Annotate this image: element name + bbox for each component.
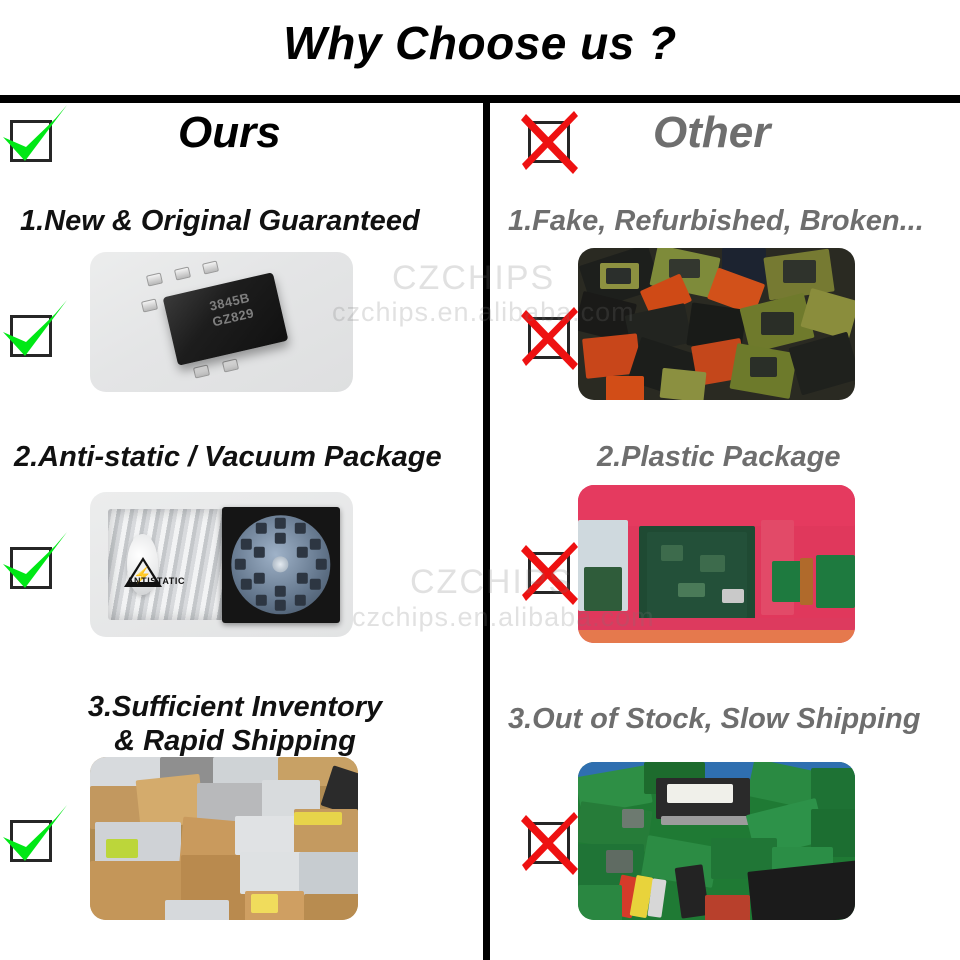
row-3-ours-image bbox=[90, 757, 358, 920]
antistatic-bag-label: ANTISTATIC bbox=[127, 576, 158, 586]
row-3-cross-box bbox=[528, 822, 570, 864]
row-2-ours-label: 2.Anti-static / Vacuum Package bbox=[14, 440, 442, 474]
row-2-cross-box bbox=[528, 552, 570, 594]
header-divider bbox=[0, 95, 960, 103]
row-1-other-image bbox=[578, 248, 855, 400]
row-1-cross-box bbox=[528, 317, 570, 359]
row-1-ours-image: 3845B GZ829 bbox=[90, 252, 353, 392]
check-mark-icon bbox=[0, 530, 71, 600]
column-header-ours: Ours bbox=[178, 108, 281, 158]
cross-mark-icon bbox=[521, 813, 583, 875]
check-mark-icon bbox=[0, 103, 71, 173]
page-title: Why Choose us ? bbox=[0, 16, 960, 70]
check-mark-icon bbox=[0, 298, 71, 368]
row-2-ours-image: ⚡ ANTISTATIC bbox=[90, 492, 353, 637]
row-2-other-label: 2.Plastic Package bbox=[597, 440, 840, 474]
header-cross-box bbox=[528, 121, 570, 163]
row-3-ours-label: 3.Sufficient Inventory & Rapid Shipping bbox=[60, 690, 410, 758]
cross-mark-icon bbox=[521, 543, 583, 605]
why-choose-us-comparison: Why Choose us ? Ours Other 1.New & Origi… bbox=[0, 0, 960, 960]
row-2-other-image bbox=[578, 485, 855, 643]
cross-mark-icon bbox=[521, 308, 583, 370]
column-header-other: Other bbox=[653, 108, 770, 158]
row-1-ours-label: 1.New & Original Guaranteed bbox=[20, 204, 420, 238]
watermark-brand-1: CZCHIPS bbox=[392, 259, 555, 298]
row-1-other-label: 1.Fake, Refurbished, Broken... bbox=[508, 204, 924, 238]
row-2-check-box bbox=[10, 547, 52, 589]
row-3-other-image bbox=[578, 762, 855, 920]
cross-mark-icon bbox=[521, 112, 583, 174]
header-check-box bbox=[10, 120, 52, 162]
row-1-check-box bbox=[10, 315, 52, 357]
column-divider bbox=[483, 100, 490, 960]
check-mark-icon bbox=[0, 803, 71, 873]
row-3-check-box bbox=[10, 820, 52, 862]
row-3-other-label: 3.Out of Stock, Slow Shipping bbox=[508, 702, 920, 736]
